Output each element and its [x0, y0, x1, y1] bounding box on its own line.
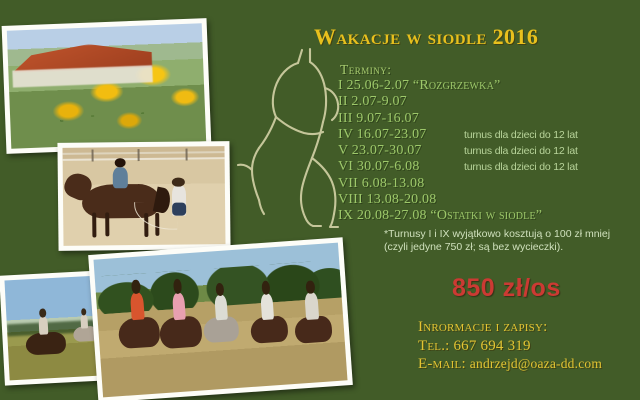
schedule-row: IX 20.08-27.08 “Ostatki w siodle”	[338, 208, 638, 224]
fence-post	[186, 148, 188, 160]
horse-leg	[92, 212, 96, 238]
schedule-row-note: turnus dla dzieci do 12 lat	[464, 159, 578, 176]
schedule-row-date: V 23.07-30.07	[338, 143, 456, 159]
trail-horse	[294, 315, 332, 344]
contact-heading: Inrormacje i zapisy:	[418, 318, 638, 337]
schedule-label: Terminy:	[340, 62, 392, 78]
schedule-row: VIII 13.08-20.08	[338, 192, 638, 208]
schedule-row: III 9.07-16.07	[338, 111, 638, 127]
sunset-rider	[38, 316, 48, 334]
page-title: Wakacje w siodle 2016	[314, 24, 626, 50]
schedule-row-date: I 25.06-2.07 “Rozgrzewka”	[338, 78, 500, 94]
schedule-row-note: turnus dla dzieci do 12 lat	[464, 143, 578, 160]
arena-rail-far	[63, 151, 225, 155]
flower-stems	[7, 23, 206, 148]
poster-canvas: Wakacje w siodle 2016 Terminy: I 25.06-2…	[0, 0, 640, 400]
trail-rider	[130, 292, 144, 320]
trail-horse	[159, 316, 203, 349]
photo-lesson	[57, 141, 230, 251]
schedule-row-date: VIII 13.08-20.08	[338, 192, 436, 208]
arena-rail	[63, 157, 225, 161]
schedule-list: I 25.06-2.07 “Rozgrzewka”II 2.07-9.07III…	[338, 78, 638, 225]
photo-flowers	[2, 18, 212, 154]
price-label: 850 zł/os	[452, 274, 561, 303]
schedule-row: VI 30.07-6.08turnus dla dzieci do 12 lat	[338, 159, 638, 175]
sunset-horse	[26, 331, 67, 355]
schedule-row: V 23.07-30.07turnus dla dzieci do 12 lat	[338, 143, 638, 159]
contact-block: Inrormacje i zapisy: Tel.: 667 694 319 E…	[418, 318, 638, 374]
schedule-row: IV 16.07-23.07turnus dla dzieci do 12 la…	[338, 127, 638, 143]
trail-horse	[250, 315, 288, 344]
schedule-row-note: turnus dla dzieci do 12 lat	[464, 127, 578, 144]
contact-email-label: E-mail:	[418, 356, 466, 372]
trail-rider	[305, 293, 319, 320]
schedule-row-date: IX 20.08-27.08 “Ostatki w siodle”	[338, 208, 542, 224]
lunge-line	[134, 202, 177, 231]
schedule-row: VII 6.08-13.08	[338, 176, 638, 192]
trail-horse	[117, 316, 161, 349]
schedule-row-date: VI 30.07-6.08	[338, 159, 456, 175]
schedule-row-date: III 9.07-16.07	[338, 111, 419, 127]
trail-horse	[203, 316, 239, 343]
fence-post	[137, 149, 139, 161]
photo-group	[88, 237, 353, 400]
schedule-row-date: VII 6.08-13.08	[338, 176, 424, 192]
footnote: *Turnusy I i IX wyjątkowo kosztują o 100…	[384, 228, 636, 254]
schedule-row-date: II 2.07-9.07	[338, 94, 407, 110]
contact-email: E-mail: andrzejd@oaza-dd.com	[418, 355, 638, 374]
sunset-rider	[80, 314, 87, 328]
horse-leg	[105, 212, 109, 237]
fence-post	[92, 149, 94, 161]
schedule-row-date: IV 16.07-23.07	[338, 127, 456, 143]
schedule-row: I 25.06-2.07 “Rozgrzewka”	[338, 78, 638, 94]
child-rider	[113, 167, 128, 189]
contact-email-address[interactable]: andrzejd@oaza-dd.com	[470, 356, 602, 371]
schedule-row: II 2.07-9.07	[338, 94, 638, 110]
contact-phone: Tel.: 667 694 319	[418, 337, 638, 356]
trail-rider	[214, 295, 228, 321]
